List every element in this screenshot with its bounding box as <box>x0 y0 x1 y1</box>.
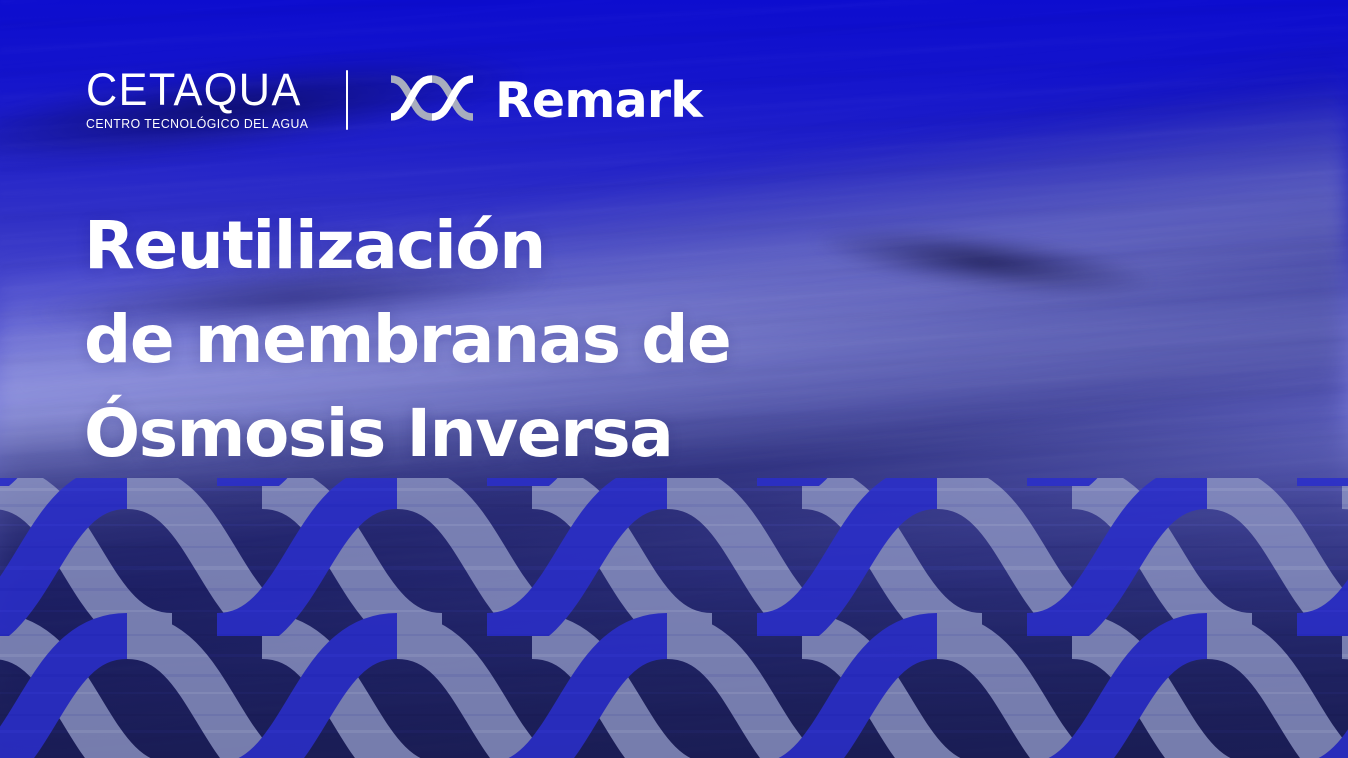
remark-wordmark: Remark <box>495 76 702 125</box>
cetaqua-tagline: CENTRO TECNOLÓGICO DEL AGUA <box>86 117 298 132</box>
cetaqua-wordmark: CETAQUA <box>86 68 305 111</box>
slide-content: CETAQUA CENTRO TECNOLÓGICO DEL AGUA <box>0 0 1348 758</box>
remark-logo: Remark <box>391 75 702 126</box>
cetaqua-logo: CETAQUA CENTRO TECNOLÓGICO DEL AGUA <box>86 68 314 132</box>
presentation-slide: CETAQUA CENTRO TECNOLÓGICO DEL AGUA <box>0 0 1348 758</box>
remark-interlace-mark-icon <box>391 75 473 126</box>
page-title: Reutilización de membranas de Ósmosis In… <box>84 199 730 481</box>
logo-divider <box>346 70 348 130</box>
logo-lockup: CETAQUA CENTRO TECNOLÓGICO DEL AGUA <box>86 66 702 134</box>
